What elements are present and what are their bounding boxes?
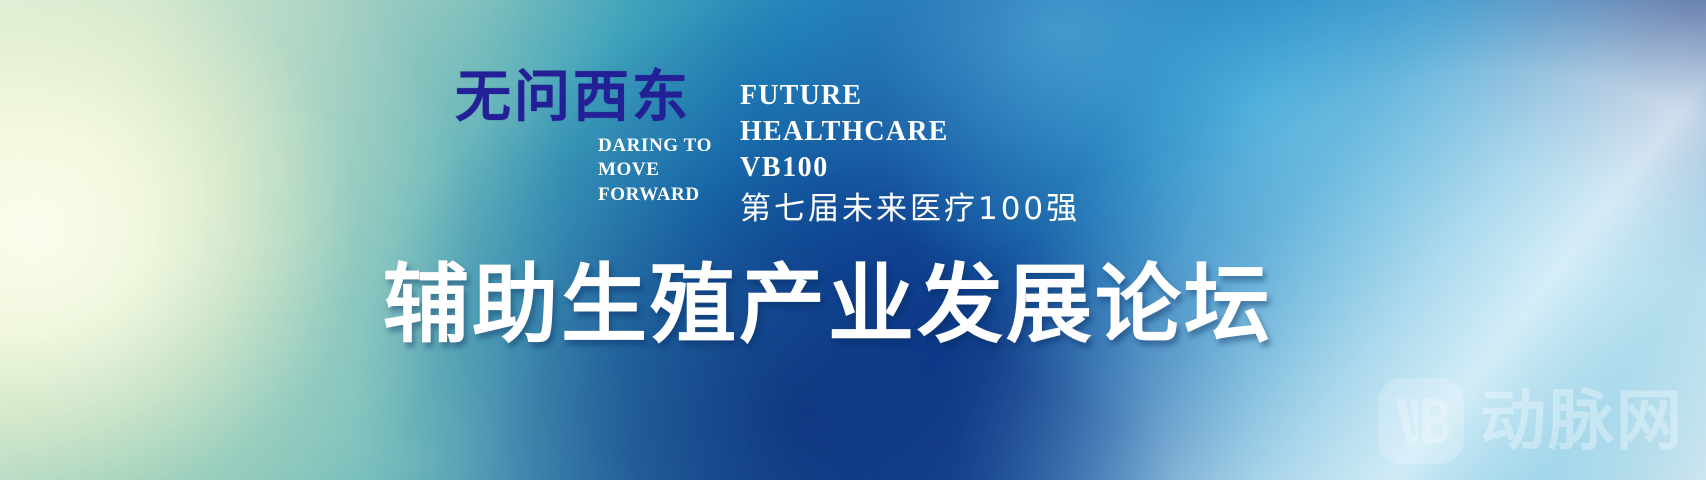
watermark: 动脉网 <box>1378 378 1684 464</box>
page-title: 辅助生殖产业发展论坛 <box>383 262 1273 348</box>
event-subtitle-chinese: 第七届未来医疗100强 <box>740 192 1080 226</box>
event-banner: 无问西东 DARING TO MOVE FORWARD FUTURE HEALT… <box>0 0 1706 480</box>
tagline-line-2: MOVE <box>598 158 712 182</box>
tagline-line-3: FORWARD <box>598 183 712 207</box>
watermark-brand-name: 动脉网 <box>1480 388 1684 454</box>
event-logo-lockup: 无问西东 DARING TO MOVE FORWARD FUTURE HEALT… <box>455 70 1080 227</box>
english-column: FUTURE HEALTHCARE VB100 第七届未来医疗100强 <box>740 70 1080 227</box>
brand-tagline: DARING TO MOVE FORWARD <box>598 134 712 207</box>
vb-logo-icon <box>1378 378 1464 464</box>
english-line-healthcare: HEALTHCARE <box>740 114 949 150</box>
english-line-vb100: VB100 <box>740 150 829 186</box>
english-line-future: FUTURE <box>740 78 862 114</box>
brand-column: 无问西东 DARING TO MOVE FORWARD <box>455 70 712 207</box>
brand-chinese-title: 无问西东 <box>455 70 691 126</box>
banner-content: 无问西东 DARING TO MOVE FORWARD FUTURE HEALT… <box>0 0 1706 480</box>
tagline-line-1: DARING TO <box>598 134 712 158</box>
